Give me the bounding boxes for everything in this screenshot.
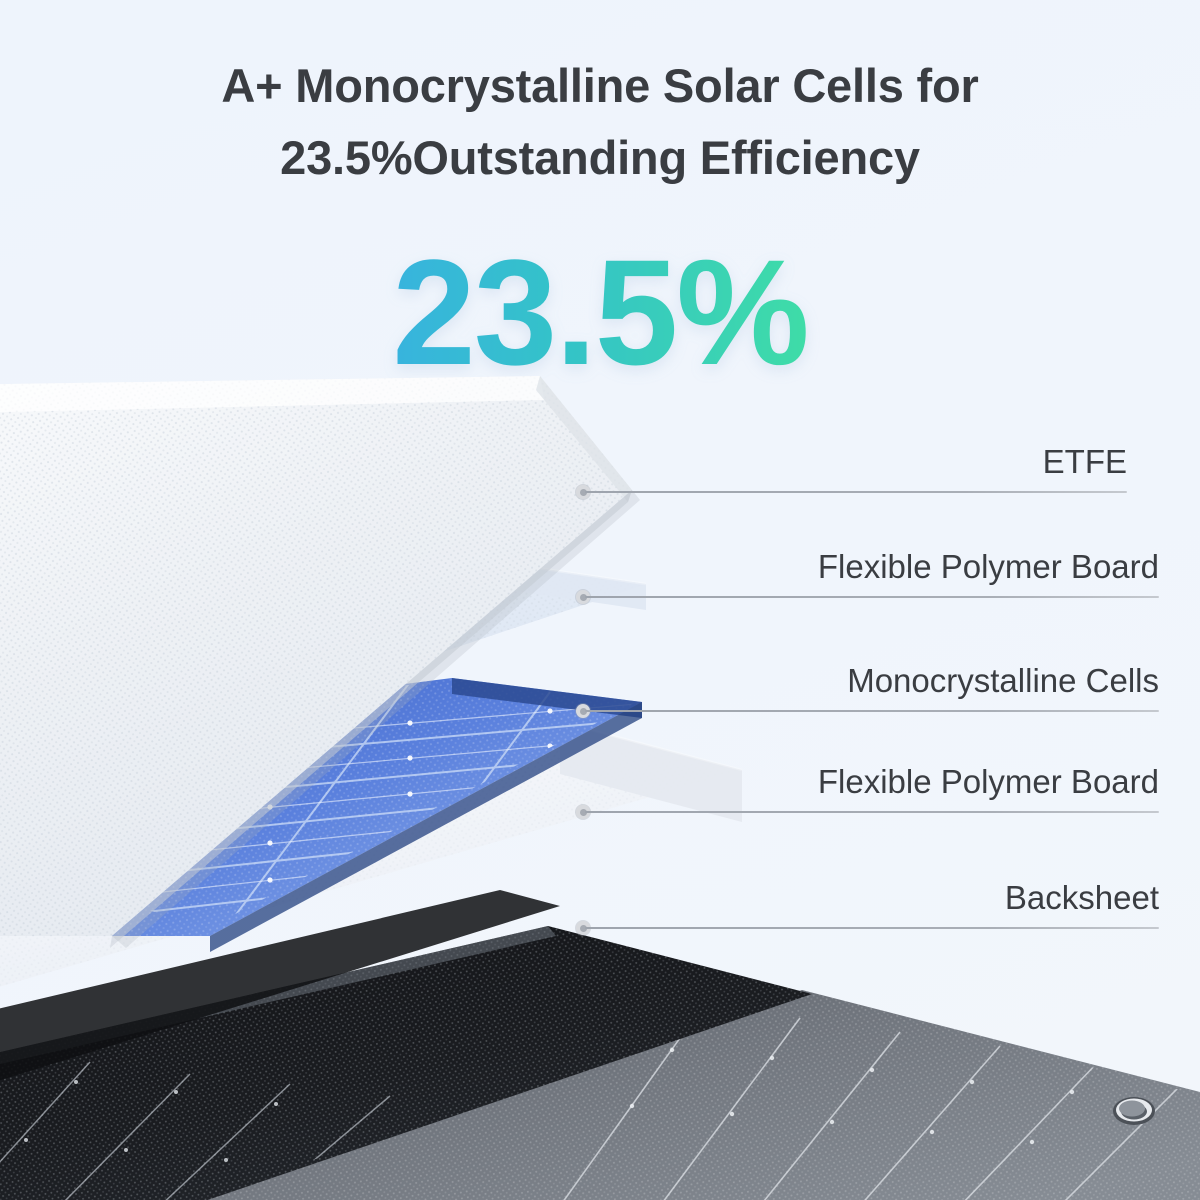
infographic-page: A+ Monocrystalline Solar Cells for 23.5%…	[0, 0, 1200, 1200]
exploded-layer-diagram	[0, 370, 1200, 1200]
page-title: A+ Monocrystalline Solar Cells for 23.5%…	[0, 50, 1200, 194]
title-line-2: 23.5%Outstanding Efficiency	[0, 122, 1200, 194]
corner-grommet-icon	[1113, 1097, 1155, 1125]
efficiency-stat: 23.5%	[0, 232, 1200, 392]
layer-edge-slivers	[632, 490, 700, 520]
title-line-1: A+ Monocrystalline Solar Cells for	[0, 50, 1200, 122]
